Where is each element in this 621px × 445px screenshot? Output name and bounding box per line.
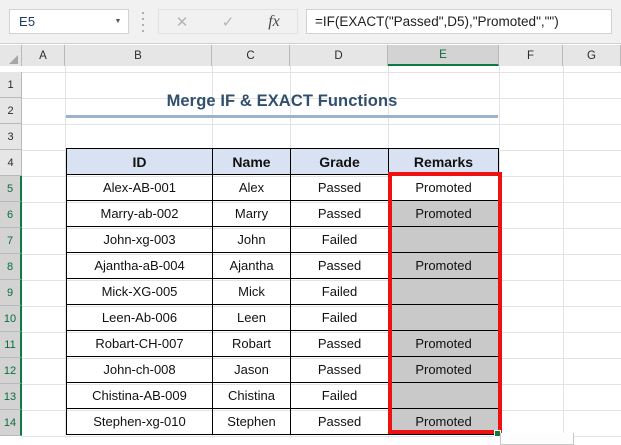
name-box[interactable]: E5 ▼ xyxy=(9,9,129,34)
cell-grade[interactable]: Failed xyxy=(291,227,389,253)
cell-remarks[interactable] xyxy=(389,279,499,305)
enter-icon[interactable]: ✓ xyxy=(205,10,251,33)
cell-id[interactable]: Leen-Ab-006 xyxy=(67,305,213,331)
cell-id[interactable]: Alex-AB-001 xyxy=(67,175,213,201)
table-row: Leen-Ab-006LeenFailed xyxy=(67,305,499,331)
column-header-a[interactable]: A xyxy=(22,45,65,66)
column-header-grade: Grade xyxy=(291,149,389,175)
cell-id[interactable]: Marry-ab-002 xyxy=(67,201,213,227)
column-header-d[interactable]: D xyxy=(290,45,388,66)
gridline-horizontal xyxy=(22,72,621,73)
name-box-value: E5 xyxy=(10,14,108,29)
column-header-g[interactable]: G xyxy=(563,45,621,66)
excel-window: E5 ▼ ✕ ✓ fx =IF(EXACT("Passed",D5),"Prom… xyxy=(0,0,621,438)
table-row: John-ch-008JasonPassedPromoted xyxy=(67,357,499,383)
row-header-4[interactable]: 4 xyxy=(0,150,22,176)
cell-name[interactable]: Leen xyxy=(213,305,291,331)
row-header-13[interactable]: 13 xyxy=(0,384,22,410)
cell-id[interactable]: Chistina-AB-009 xyxy=(67,383,213,409)
cell-name[interactable]: Stephen xyxy=(213,409,291,435)
cell-remarks[interactable]: Promoted xyxy=(389,409,499,435)
table-row: Marry-ab-002MarryPassedPromoted xyxy=(67,201,499,227)
cell-grade[interactable]: Failed xyxy=(291,279,389,305)
cell-name[interactable]: John xyxy=(213,227,291,253)
cell-grade[interactable]: Passed xyxy=(291,175,389,201)
column-header-c[interactable]: C xyxy=(212,45,290,66)
row-header-2[interactable]: 2 xyxy=(0,98,22,124)
title-underline xyxy=(66,115,498,118)
cell-remarks[interactable]: Promoted xyxy=(389,357,499,383)
table-row: Ajantha-aB-004AjanthaPassedPromoted xyxy=(67,253,499,279)
column-header-remarks: Remarks xyxy=(389,149,499,175)
cell-name[interactable]: Robart xyxy=(213,331,291,357)
cell-remarks[interactable] xyxy=(389,383,499,409)
formula-bar-strip: E5 ▼ ✕ ✓ fx =IF(EXACT("Passed",D5),"Prom… xyxy=(0,0,621,44)
column-header-bar: ABCDEFG xyxy=(0,45,621,66)
sheet-title-banner: Merge IF & EXACT Functions xyxy=(66,88,498,120)
formula-action-buttons: ✕ ✓ fx xyxy=(158,9,298,34)
formula-input[interactable]: =IF(EXACT("Passed",D5),"Promoted","") xyxy=(306,9,612,34)
row-header-bar: 1234567891011121314 xyxy=(0,66,22,438)
page-title: Merge IF & EXACT Functions xyxy=(66,88,498,115)
cell-id[interactable]: John-ch-008 xyxy=(67,357,213,383)
cell-id[interactable]: Mick-XG-005 xyxy=(67,279,213,305)
cell-grade[interactable]: Passed xyxy=(291,409,389,435)
cell-name[interactable]: Mick xyxy=(213,279,291,305)
cell-id[interactable]: John-xg-003 xyxy=(67,227,213,253)
row-header-3[interactable]: 3 xyxy=(0,124,22,150)
cell-grade[interactable]: Passed xyxy=(291,201,389,227)
cell-id[interactable]: Ajantha-aB-004 xyxy=(67,253,213,279)
table-row: Stephen-xg-010StephenPassedPromoted xyxy=(67,409,499,435)
row-header-5[interactable]: 5 xyxy=(0,176,22,202)
table-row: Alex-AB-001AlexPassedPromoted xyxy=(67,175,499,201)
table-row: Robart-CH-007RobartPassedPromoted xyxy=(67,331,499,357)
row-header-14[interactable]: 14 xyxy=(0,410,22,436)
cell-grade[interactable]: Failed xyxy=(291,383,389,409)
chevron-down-icon[interactable]: ▼ xyxy=(108,10,128,33)
cell-grade[interactable]: Passed xyxy=(291,331,389,357)
cell-grade[interactable]: Failed xyxy=(291,305,389,331)
cell-remarks[interactable]: Promoted xyxy=(389,201,499,227)
cell-remarks[interactable] xyxy=(389,305,499,331)
insert-function-icon[interactable]: fx xyxy=(251,10,297,33)
cell-name[interactable]: Alex xyxy=(213,175,291,201)
table-header-row: ID Name Grade Remarks xyxy=(67,149,499,175)
cell-remarks[interactable] xyxy=(389,227,499,253)
column-header-e[interactable]: E xyxy=(388,45,499,66)
row-header-1[interactable]: 1 xyxy=(0,72,22,98)
row-header-6[interactable]: 6 xyxy=(0,202,22,228)
cell-grade[interactable]: Passed xyxy=(291,357,389,383)
row-header-8[interactable]: 8 xyxy=(0,254,22,280)
drag-dots-icon xyxy=(140,12,146,32)
row-header-11[interactable]: 11 xyxy=(0,332,22,358)
select-all-corner[interactable] xyxy=(0,45,22,66)
cancel-icon[interactable]: ✕ xyxy=(159,10,205,33)
row-header-7[interactable]: 7 xyxy=(0,228,22,254)
column-header-f[interactable]: F xyxy=(499,45,563,66)
cell-remarks[interactable]: Promoted xyxy=(389,175,499,201)
cell-remarks[interactable]: Promoted xyxy=(389,331,499,357)
cell-name[interactable]: Jason xyxy=(213,357,291,383)
cell-name[interactable]: Chistina xyxy=(213,383,291,409)
data-table: ID Name Grade Remarks Alex-AB-001AlexPas… xyxy=(66,148,499,435)
cell-id[interactable]: Robart-CH-007 xyxy=(67,331,213,357)
cell-grade[interactable]: Passed xyxy=(291,253,389,279)
cell-name[interactable]: Marry xyxy=(213,201,291,227)
column-header-b[interactable]: B xyxy=(65,45,212,66)
column-header-name: Name xyxy=(213,149,291,175)
grid-bottom-edge xyxy=(500,433,574,445)
cell-remarks[interactable]: Promoted xyxy=(389,253,499,279)
table-row: John-xg-003JohnFailed xyxy=(67,227,499,253)
cell-id[interactable]: Stephen-xg-010 xyxy=(67,409,213,435)
row-header-9[interactable]: 9 xyxy=(0,280,22,306)
column-header-id: ID xyxy=(67,149,213,175)
row-header-10[interactable]: 10 xyxy=(0,306,22,332)
formula-text: =IF(EXACT("Passed",D5),"Promoted","") xyxy=(307,14,559,29)
gridline-horizontal xyxy=(22,124,621,125)
gridline-vertical xyxy=(563,66,564,438)
gridline-vertical xyxy=(499,66,500,438)
table-row: Chistina-AB-009ChistinaFailed xyxy=(67,383,499,409)
row-header-12[interactable]: 12 xyxy=(0,358,22,384)
cell-name[interactable]: Ajantha xyxy=(213,253,291,279)
table-row: Mick-XG-005MickFailed xyxy=(67,279,499,305)
